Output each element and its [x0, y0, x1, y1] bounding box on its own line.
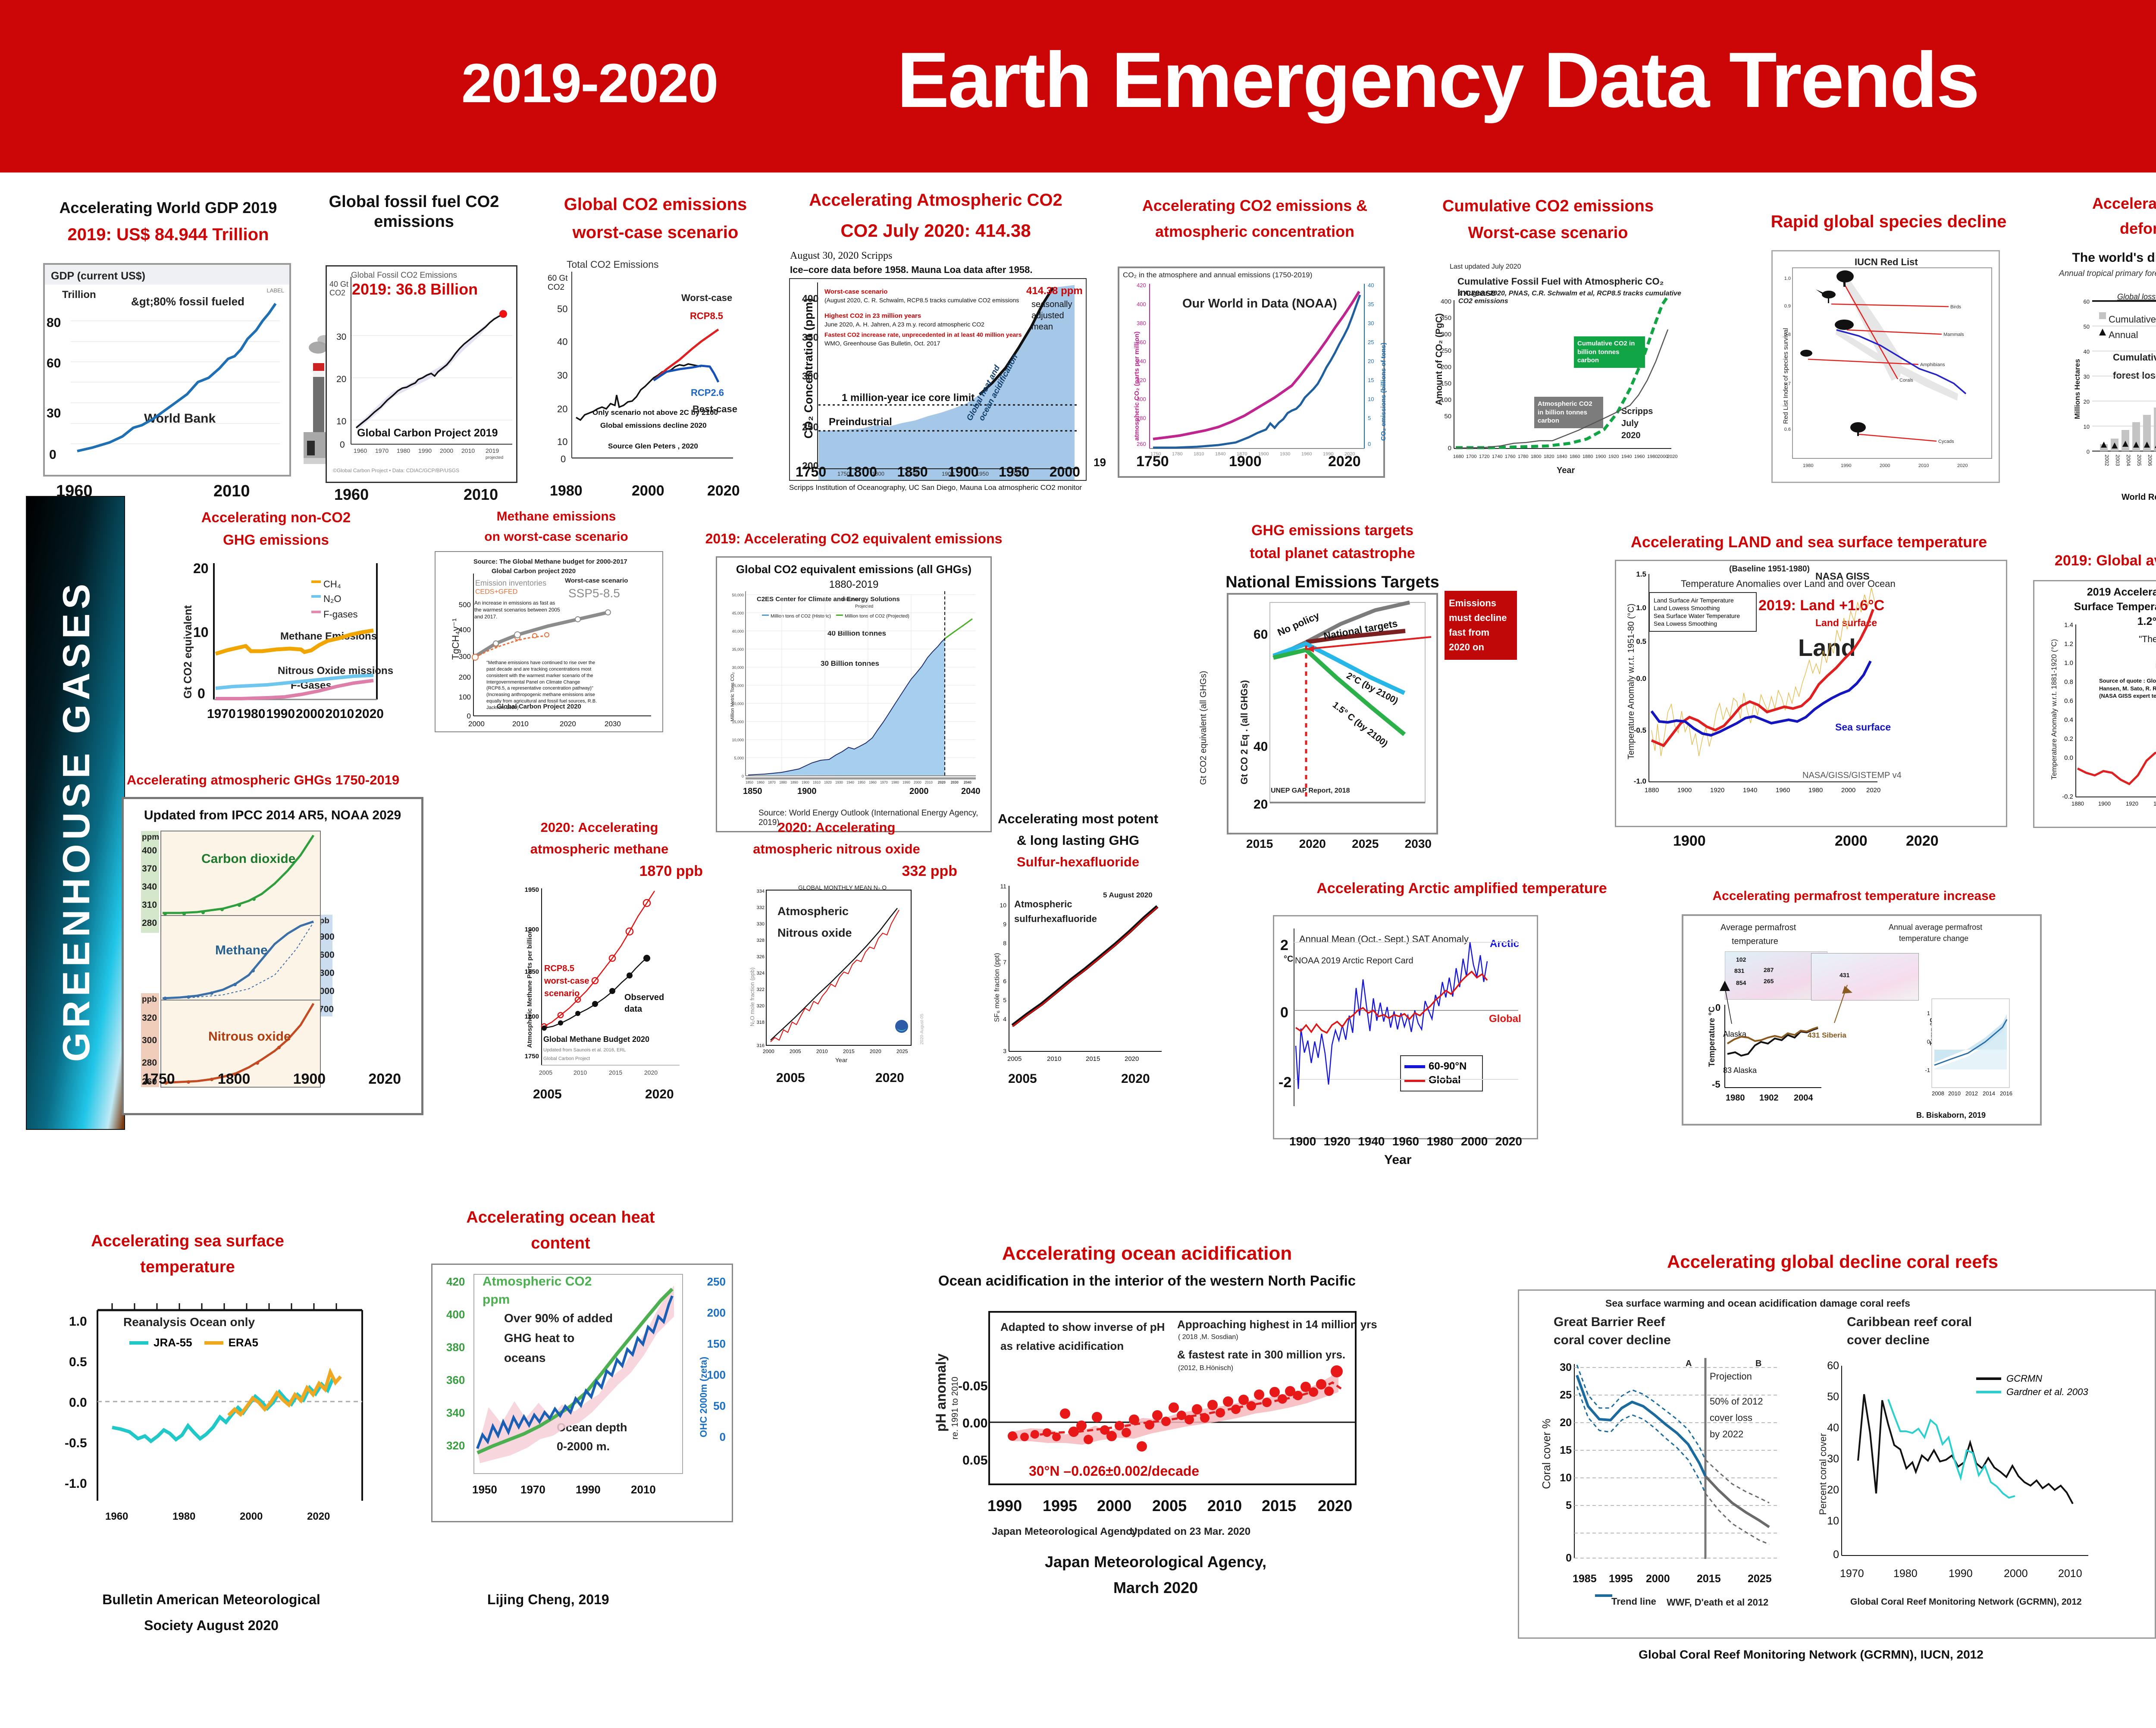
svg-text:2020: 2020 — [1125, 1055, 1139, 1063]
svg-text:1960: 1960 — [1301, 452, 1312, 457]
svg-text:300: 300 — [1441, 331, 1451, 338]
atmosco2-preindustrial-label: Preindustrial — [829, 415, 892, 429]
svg-text:1860: 1860 — [1570, 454, 1580, 459]
atmosco2-header: August 30, 2020 Scripps Ice–core data be… — [790, 250, 1092, 276]
co2conc-bigx-1750: 1750 — [1136, 453, 1169, 470]
meth2020-title-1: 2020: Accelerating — [496, 819, 703, 836]
svg-text:40: 40 — [2084, 348, 2090, 355]
panel-permafrost: Accelerating permafrost temperature incr… — [1660, 888, 2048, 904]
panel-species-decline: Rapid global species decline — [1746, 211, 2031, 232]
svg-text:250: 250 — [1441, 347, 1451, 354]
svg-text:2030: 2030 — [951, 781, 959, 784]
svg-text:1840: 1840 — [1557, 454, 1567, 459]
ghgs1750-title: Accelerating atmospheric GHGs 1750-2019 — [112, 772, 414, 788]
svg-text:2000: 2000 — [763, 1048, 774, 1054]
gdp-title: Accelerating World GDP 2019 — [34, 198, 302, 217]
svg-text:30: 30 — [1368, 320, 1374, 326]
svg-text:2020: 2020 — [307, 1511, 330, 1522]
svg-text:5,000: 5,000 — [734, 756, 744, 760]
svg-text:1.0: 1.0 — [2064, 659, 2073, 667]
svg-text:2010: 2010 — [1918, 463, 1929, 468]
nonco2-title-1: Accelerating non-CO2 — [164, 509, 388, 526]
svg-text:7: 7 — [1003, 959, 1006, 966]
svg-text:324: 324 — [757, 971, 765, 976]
svg-text:2020: 2020 — [938, 781, 946, 784]
svg-text:200: 200 — [1441, 364, 1451, 371]
co2eq-bigx-2040: 2040 — [961, 786, 981, 797]
svg-text:1950: 1950 — [858, 781, 865, 784]
svg-text:1990: 1990 — [418, 447, 432, 454]
svg-text:1980: 1980 — [1808, 787, 1823, 794]
svg-text:9: 9 — [1003, 921, 1006, 928]
svg-text:1940: 1940 — [846, 781, 854, 784]
globtemp-title: 2019: Global av temperature +1.2°C — [2029, 552, 2156, 570]
n2o-bigx-2020: 2020 — [875, 1070, 904, 1086]
svg-text:3: 3 — [1003, 1047, 1006, 1054]
permafrost-source: B. Biskaborn, 2019 — [1916, 1110, 1986, 1120]
svg-text:360: 360 — [1137, 339, 1146, 345]
svg-text:10,000: 10,000 — [732, 738, 744, 742]
svg-text:1890: 1890 — [790, 781, 798, 784]
sst-title-1: Accelerating sea surface — [65, 1231, 310, 1251]
svg-text:1950: 1950 — [472, 1483, 497, 1496]
svg-text:Nitrous oxide: Nitrous oxide — [208, 1029, 291, 1044]
svg-text:Birds: Birds — [1950, 304, 1962, 310]
svg-text:100: 100 — [1441, 396, 1451, 404]
atmosco2-bigx-1950: 1950 — [999, 464, 1029, 480]
svg-text:0.0: 0.0 — [2064, 754, 2073, 762]
atmosco2-ytick-300: 300 — [802, 370, 818, 382]
svg-text:340: 340 — [1137, 358, 1146, 364]
targets-xticks: 2015 2020 2025 2030 — [1246, 837, 1432, 851]
svg-text:25: 25 — [1368, 339, 1374, 345]
svg-text:0: 0 — [742, 774, 744, 778]
svg-text:5: 5 — [1566, 1499, 1572, 1512]
panel-methane-worstcase: Methane emissions on worst-case scenario — [436, 509, 677, 545]
targets-xtick-2025: 2025 — [1352, 837, 1379, 851]
svg-text:1860: 1860 — [757, 781, 765, 784]
svg-text:1930: 1930 — [835, 781, 843, 784]
svg-text:1680: 1680 — [1453, 454, 1463, 459]
acid-caption-2: March 2020 — [940, 1578, 1371, 1597]
svg-text:-0.2: -0.2 — [2062, 793, 2073, 800]
permafrost-chart-frame: Average permafrost temperature Annual av… — [1682, 914, 2042, 1126]
ghgs1750-xtick-1900: 1900 — [293, 1070, 326, 1088]
sf6-bigx-2005: 2005 — [1008, 1071, 1037, 1087]
svg-text:1985: 1985 — [1573, 1573, 1597, 1585]
n2o-bigx-2005: 2005 — [776, 1070, 805, 1086]
svg-text:0: 0 — [1368, 441, 1371, 447]
fossil-title: Global fossil fuel CO2 emissions — [302, 192, 526, 232]
svg-text:-0.5: -0.5 — [1634, 726, 1646, 734]
svg-text:50: 50 — [2084, 323, 2090, 330]
svg-text:Methane: Methane — [215, 943, 268, 957]
svg-text:1970: 1970 — [880, 781, 888, 784]
landsea-bigx-1900: 1900 — [1673, 832, 1706, 850]
svg-text:328: 328 — [757, 938, 765, 943]
fossil-bigx-2010: 2010 — [464, 485, 498, 504]
panel-sea-surface-temp: Accelerating sea surface temperature — [65, 1231, 310, 1277]
svg-text:1.5: 1.5 — [1636, 570, 1646, 578]
methworst-title-2: on worst-case scenario — [436, 529, 677, 545]
atmosco2-bigx-1750: 1750 — [796, 464, 826, 480]
nonco2-xtick-2020: 2020 — [355, 706, 384, 722]
atmosco2-bigx: 1750 1800 1850 1900 1950 2000 — [796, 464, 1080, 480]
svg-text:2004: 2004 — [2125, 455, 2131, 466]
svg-text:500: 500 — [459, 601, 471, 609]
svg-text:2015: 2015 — [1697, 1573, 1721, 1585]
svg-text:2010: 2010 — [461, 447, 475, 454]
gdp-highlight: 2019: US$ 84.944 Trillion — [34, 224, 302, 245]
svg-text:15,000: 15,000 — [732, 720, 744, 724]
ghgs1750-xtick-1800: 1800 — [218, 1070, 251, 1088]
atmosco2-bigx-1850: 1850 — [897, 464, 928, 480]
targets-xtick-2030: 2030 — [1405, 837, 1432, 851]
svg-text:200: 200 — [459, 673, 471, 681]
meth2020-value: 1870 ppb — [496, 862, 703, 880]
cumulative-x-axis-label: Year — [1557, 466, 1575, 476]
panel-ghgs-1750: Accelerating atmospheric GHGs 1750-2019 — [112, 772, 414, 788]
atmosco2-note-1: (August 2020, C. R. Schwalm, RCP8.5 trac… — [824, 296, 1019, 304]
svg-text:1880: 1880 — [1583, 454, 1593, 459]
meth2020-chart: Atmospheric Methane Parts per billion RC… — [517, 884, 694, 1100]
fossil-bigx-1960: 1960 — [334, 485, 369, 504]
panel-global-temperature: 2019: Global av temperature +1.2°C — [2029, 552, 2156, 570]
atmosco2-note-3: June 2020, A. H. Jahren, A 23 m.y. recor… — [824, 320, 984, 329]
svg-text:1980: 1980 — [397, 447, 410, 454]
atmosco2-note-4: Fastest CO2 increase rate, unprecedented… — [824, 331, 1022, 339]
svg-text:1900: 1900 — [1677, 787, 1692, 794]
svg-text:320: 320 — [1137, 377, 1146, 383]
svg-text:2014: 2014 — [1983, 1090, 1995, 1097]
svg-text:1995: 1995 — [1609, 1573, 1633, 1585]
svg-text:0: 0 — [1833, 1549, 1839, 1561]
cumulative-title-1: Cumulative CO2 emissions — [1414, 196, 1682, 216]
meth2020-title-2: atmospheric methane — [496, 841, 703, 857]
acid-caption-1: Japan Meteorological Agency, — [940, 1552, 1371, 1571]
arctictemp-xtick-2020: 2020 — [1495, 1134, 1522, 1149]
svg-text:2010: 2010 — [573, 1069, 587, 1076]
svg-text:1960: 1960 — [869, 781, 877, 784]
coral-title: Accelerating global decline coral reefs — [1552, 1251, 2113, 1273]
svg-text:2010: 2010 — [925, 781, 933, 784]
atmosco2-y-axis-label: CO₂ Concentration (ppm) — [802, 298, 815, 439]
svg-text:0.8: 0.8 — [1784, 332, 1791, 337]
acid-footer-2: Updated on 23 Mar. 2020 — [1130, 1526, 1250, 1538]
sst-chart: Reanalysis Ocean only JRA-55 ERA5 1.0 0.… — [65, 1285, 384, 1548]
svg-text:20: 20 — [2084, 398, 2090, 405]
defor-title-2: deforestation — [2048, 219, 2156, 238]
svg-text:-1: -1 — [1925, 1067, 1930, 1073]
svg-text:1980: 1980 — [1647, 454, 1658, 459]
defor-subtitle: Annual tropical primary forest loss, 200… — [2057, 269, 2156, 290]
svg-text:0: 0 — [1448, 445, 1451, 452]
panel-ocean-acidification: Accelerating ocean acidification Ocean a… — [897, 1242, 1397, 1289]
svg-text:10: 10 — [1368, 396, 1374, 402]
panel-tropical-deforestation: Accelerating tropical deforestation — [2048, 194, 2156, 238]
co2conc-chart-frame: CO₂ in the atmosphere and annual emissio… — [1118, 267, 1385, 478]
nonco2-xticks: 1970 1980 1990 2000 2010 2020 — [207, 706, 384, 722]
svg-text:334: 334 — [757, 889, 765, 894]
nonco2-title-2: GHG emissions — [164, 531, 388, 549]
landsea-bigx-2000: 2000 — [1835, 832, 1868, 850]
arctictemp-xtick-1980: 1980 — [1426, 1134, 1453, 1149]
targets-chart-frame: Gt CO 2 Eq . (all GHGs) 60 40 20 UNEP GA… — [1227, 593, 1438, 834]
svg-text:0.5: 0.5 — [1636, 637, 1646, 646]
svg-text:2000: 2000 — [240, 1511, 263, 1522]
svg-text:1910: 1910 — [813, 781, 821, 784]
svg-text:1760: 1760 — [1505, 454, 1515, 459]
svg-text:2000: 2000 — [1880, 463, 1890, 468]
svg-text:60: 60 — [1827, 1360, 1839, 1372]
n2o-title-1: 2020: Accelerating — [716, 819, 957, 836]
panel-co2-equivalent: 2019: Accelerating CO2 equivalent emissi… — [699, 530, 1009, 547]
svg-text:2000: 2000 — [440, 447, 453, 454]
svg-text:2030: 2030 — [605, 720, 621, 728]
svg-text:2020: 2020 — [870, 1048, 881, 1054]
atmosco2-note-0: Worst-case scenario — [824, 288, 887, 296]
fossil-chart-frame: Global Fossil CO2 Emissions 40 Gt CO2 20… — [326, 265, 517, 483]
svg-text:322: 322 — [757, 987, 765, 992]
targets-xtick-2020: 2020 — [1299, 837, 1326, 851]
greenhouse-gases-banner: GREENHOUSE GASES — [26, 496, 125, 1130]
svg-text:1.2: 1.2 — [2064, 640, 2073, 648]
svg-text:4: 4 — [1003, 1016, 1006, 1022]
co2eq-chart-frame: Global CO2 equivalent emissions (all GHG… — [716, 556, 992, 832]
svg-text:40,000: 40,000 — [732, 629, 744, 633]
svg-text:25: 25 — [1560, 1389, 1572, 1401]
svg-text:1820: 1820 — [1544, 454, 1554, 459]
svg-text:0.2: 0.2 — [2064, 735, 2073, 743]
targets-inner-title: National Emissions Targets — [1207, 572, 1457, 592]
svg-text:2020: 2020 — [1318, 1497, 1352, 1515]
svg-text:1880: 1880 — [1645, 787, 1659, 794]
svg-text:2015: 2015 — [843, 1048, 855, 1054]
panel-co2-emissions-concentration: Accelerating CO2 emissions & atmospheric… — [1112, 196, 1397, 241]
svg-text:0.4: 0.4 — [2064, 716, 2073, 724]
svg-text:20,000: 20,000 — [732, 702, 744, 706]
svg-text:1.0: 1.0 — [1784, 276, 1791, 281]
svg-text:2020: 2020 — [1667, 454, 1677, 459]
svg-text:1960: 1960 — [354, 447, 367, 454]
arctictemp-x-axis-label: Year — [1384, 1152, 1411, 1168]
arctictemp-xtick-1900: 1900 — [1289, 1134, 1316, 1149]
atmosco2-subtitle: Ice–core data before 1958. Mauna Loa dat… — [790, 264, 1092, 276]
svg-text:1980: 1980 — [1893, 1568, 1918, 1580]
arctictemp-xticks: 1900 1920 1940 1960 1980 2000 2020 — [1289, 1134, 1522, 1149]
svg-text:150: 150 — [1441, 380, 1451, 387]
svg-text:2002: 2002 — [2104, 455, 2110, 466]
svg-text:2016: 2016 — [2000, 1090, 2012, 1097]
svg-text:Carbon dioxide: Carbon dioxide — [201, 852, 295, 866]
svg-text:1960: 1960 — [1776, 787, 1790, 794]
svg-text:50,000: 50,000 — [732, 593, 744, 597]
co2conc-title-2: atmospheric concentration — [1112, 222, 1397, 241]
svg-text:20: 20 — [1827, 1484, 1839, 1496]
targets-red-box: Emissions must decline fast from 2020 on — [1445, 591, 1517, 660]
svg-text:1.0: 1.0 — [1636, 604, 1646, 612]
atmosco2-bigx-1800: 1800 — [846, 464, 877, 480]
atmosco2-bigx-1900: 1900 — [948, 464, 978, 480]
panel-n2o-2020: 2020: Accelerating atmospheric nitrous o… — [716, 819, 957, 880]
arctictemp-title: Accelerating Arctic amplified temperatur… — [1268, 880, 1656, 897]
svg-text:2025: 2025 — [896, 1048, 908, 1054]
ohc-title-2: content — [423, 1233, 699, 1253]
svg-text:1880: 1880 — [779, 781, 787, 784]
sf6-chart: Atmospheric sulfurhexafluoride 5 August … — [987, 880, 1173, 1087]
svg-text:0.6: 0.6 — [2064, 697, 2073, 705]
defor-source: World Resources Institute — [2122, 492, 2156, 503]
nonco2-xtick-2000: 2000 — [296, 706, 325, 722]
svg-text:1970: 1970 — [1840, 1568, 1864, 1580]
svg-text:0: 0 — [1927, 1038, 1930, 1045]
sf6-title-3: Sulfur-hexafluoride — [975, 854, 1181, 870]
svg-text:1950: 1950 — [525, 886, 539, 894]
acid-title: Accelerating ocean acidification — [897, 1242, 1397, 1265]
svg-text:30: 30 — [1560, 1361, 1572, 1374]
panel-non-co2-ghg: Accelerating non-CO2 GHG emissions — [164, 509, 388, 549]
svg-text:1960: 1960 — [1634, 454, 1645, 459]
svg-text:1850: 1850 — [525, 968, 539, 975]
svg-text:40: 40 — [1368, 282, 1374, 289]
species-chart-frame: IUCN Red List Red List Index of species … — [1771, 250, 2000, 483]
svg-text:1980: 1980 — [172, 1511, 195, 1522]
svg-text:2020: 2020 — [560, 720, 576, 728]
banner-label: GREENHOUSE GASES — [54, 504, 98, 1138]
atmosco2-note-5: WMO, Greenhouse Gas Bulletin, Oct. 2017 — [824, 339, 940, 348]
svg-text:Mammals: Mammals — [1943, 332, 1964, 337]
svg-text:2040: 2040 — [964, 781, 971, 784]
cumulative-chart: Last updated July 2020 Cumulative Fossil… — [1427, 263, 1686, 483]
svg-text:2010: 2010 — [1207, 1497, 1242, 1515]
svg-text:50: 50 — [1827, 1391, 1839, 1403]
svg-text:2008: 2008 — [1932, 1090, 1944, 1097]
svg-text:30: 30 — [1827, 1453, 1839, 1465]
svg-text:332: 332 — [757, 905, 765, 910]
svg-text:2025: 2025 — [1748, 1573, 1772, 1585]
co2worst-bigx-1980: 1980 — [550, 482, 583, 500]
arctictemp-chart-frame: Annual Mean (Oct.- Sept.) SAT Anomaly NO… — [1273, 915, 1538, 1139]
svg-text:0.6: 0.6 — [1784, 427, 1791, 432]
sst-caption-1: Bulletin American Meteorological — [69, 1591, 354, 1608]
co2conc-bigx-2020: 2020 — [1328, 453, 1361, 470]
svg-text:2010: 2010 — [1948, 1090, 1961, 1097]
arctictemp-xtick-2000: 2000 — [1461, 1134, 1488, 1149]
svg-text:2015: 2015 — [609, 1069, 622, 1076]
svg-text:10: 10 — [1000, 902, 1006, 909]
co2worst-bigx-2000: 2000 — [632, 482, 664, 500]
svg-text:Amphibians: Amphibians — [1920, 362, 1945, 367]
atmosco2-title-1: Accelerating Atmospheric CO2 — [776, 190, 1095, 211]
svg-text:1900: 1900 — [2098, 800, 2111, 807]
svg-text:2000: 2000 — [1646, 1573, 1670, 1585]
co2eq-bigx-2000: 2000 — [909, 786, 929, 797]
svg-text:1990: 1990 — [903, 781, 910, 784]
svg-text:2000: 2000 — [2004, 1568, 2028, 1580]
svg-text:10: 10 — [2084, 423, 2090, 430]
svg-text:11: 11 — [1000, 883, 1006, 890]
header-tagline-1: ALL GETTING WORSE FASTER — [2139, 9, 2156, 49]
meth2020-bigx-2005: 2005 — [533, 1087, 562, 1103]
svg-text:1902: 1902 — [1759, 1093, 1779, 1103]
targets-y-axis-label-outer: Gt CO2 equivalent (all GHGs) — [1199, 671, 1209, 785]
svg-text:0.7: 0.7 — [1784, 381, 1791, 386]
svg-text:20: 20 — [1368, 358, 1374, 364]
panel-fossil-fuel-co2: Global fossil fuel CO2 emissions — [302, 192, 526, 232]
svg-text:2020: 2020 — [644, 1069, 658, 1076]
svg-text:1940: 1940 — [2153, 800, 2156, 807]
svg-text:5: 5 — [1368, 415, 1371, 421]
svg-text:5: 5 — [1003, 997, 1006, 1004]
sf6-title-1: Accelerating most potent — [975, 811, 1181, 827]
svg-text:2000: 2000 — [1097, 1497, 1131, 1515]
svg-text:1920: 1920 — [824, 781, 832, 784]
svg-text:350: 350 — [1441, 314, 1451, 322]
svg-text:35,000: 35,000 — [732, 647, 744, 652]
svg-text:2020: 2020 — [1866, 787, 1880, 794]
panel-sf6: Accelerating most potent & long lasting … — [975, 811, 1181, 870]
panel-ocean-heat: Accelerating ocean heat content — [423, 1207, 699, 1254]
species-title: Rapid global species decline — [1746, 211, 2031, 232]
globtemp-chart-frame: NASA GISS 2019 Accelerating Global Surfa… — [2033, 580, 2156, 828]
acid-inner-title: Ocean acidification in the interior of t… — [897, 1272, 1397, 1289]
svg-text:1920: 1920 — [2126, 800, 2138, 807]
svg-text:50: 50 — [1444, 413, 1451, 420]
svg-text:1870: 1870 — [768, 781, 776, 784]
svg-text:1800: 1800 — [525, 1013, 539, 1020]
svg-text:25,000: 25,000 — [732, 684, 744, 688]
n2o-title-2: atmospheric nitrous oxide — [716, 841, 957, 857]
svg-text:0: 0 — [467, 712, 471, 720]
panel-methane-2020: 2020: Accelerating atmospheric methane 1… — [496, 819, 703, 880]
landsea-bigx-2020: 2020 — [1906, 832, 1939, 850]
svg-text:260: 260 — [1137, 441, 1146, 447]
svg-text:1900: 1900 — [525, 926, 539, 933]
svg-text:1920: 1920 — [1710, 787, 1724, 794]
svg-text:2010: 2010 — [2058, 1568, 2082, 1580]
svg-text:2000: 2000 — [468, 720, 485, 728]
gdp-xtick-2010: 2010 — [213, 481, 250, 501]
svg-text:1720: 1720 — [1479, 454, 1489, 459]
svg-text:1980: 1980 — [891, 781, 899, 784]
svg-text:400: 400 — [459, 626, 471, 634]
permafrost-title: Accelerating permafrost temperature incr… — [1660, 888, 2048, 904]
svg-text:2005: 2005 — [790, 1048, 801, 1054]
svg-text:1995: 1995 — [1043, 1497, 1077, 1515]
coral-caption: Global Coral Reef Monitoring Network (GC… — [1552, 1647, 2070, 1662]
atmosco2-footer: Scripps Institution of Oceanography, UC … — [789, 483, 1082, 493]
coral-chart-frame: Sea surface warming and ocean acidificat… — [1518, 1289, 2156, 1639]
svg-text:1880: 1880 — [2071, 800, 2084, 807]
defor-header: The world's disappearing tropics Annual … — [2057, 250, 2156, 290]
nonco2-xtick-1980: 1980 — [237, 706, 266, 722]
svg-text:2004: 2004 — [1794, 1093, 1813, 1103]
co2worst-title-1: Global CO2 emissions — [535, 194, 776, 215]
atmosco2-note-2: Highest CO2 in 23 million years — [824, 312, 921, 320]
svg-text:0: 0 — [1566, 1552, 1572, 1564]
svg-text:1990: 1990 — [576, 1483, 601, 1496]
svg-text:316: 316 — [757, 1043, 765, 1048]
svg-text:2006: 2006 — [2147, 455, 2153, 466]
svg-text:35: 35 — [1368, 301, 1374, 307]
atmosco2-ytick-400: 400 — [802, 293, 818, 304]
svg-text:1750: 1750 — [525, 1053, 539, 1060]
svg-text:420: 420 — [1137, 282, 1146, 289]
n2o-value: 332 ppb — [716, 862, 957, 880]
atmosco2-icecore-label: 1 million-year ice core limit — [842, 391, 975, 405]
header-tagline-3: Trending to biosphere collapse — [2139, 113, 2156, 156]
svg-text:400: 400 — [1441, 298, 1451, 305]
